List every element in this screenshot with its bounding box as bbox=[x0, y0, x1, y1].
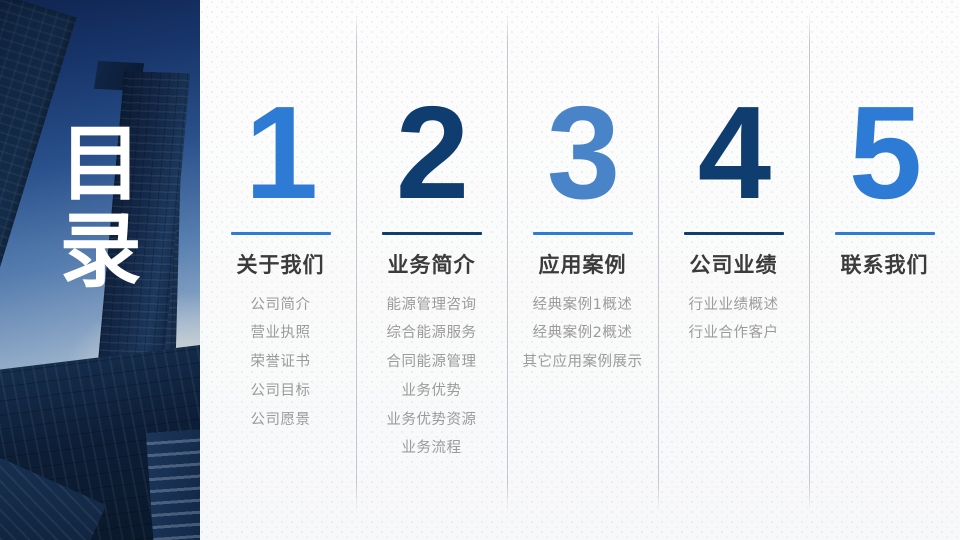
list-item[interactable]: 行业业绩概述 bbox=[689, 295, 779, 317]
toc-column-4[interactable]: 4 公司业绩 行业业绩概述行业合作客户 bbox=[658, 0, 809, 540]
section-rule-1 bbox=[231, 232, 331, 235]
list-item[interactable]: 公司愿景 bbox=[251, 410, 311, 432]
page-title-char-2: 录 bbox=[46, 209, 156, 296]
list-item[interactable]: 合同能源管理 bbox=[387, 352, 477, 374]
list-item[interactable]: 其它应用案例展示 bbox=[523, 352, 643, 374]
list-item[interactable]: 业务优势资源 bbox=[387, 410, 477, 432]
list-item[interactable]: 行业合作客户 bbox=[689, 323, 779, 345]
section-number-1: 1 bbox=[245, 96, 316, 210]
section-rule-5 bbox=[835, 232, 935, 235]
section-items-1: 公司简介营业执照荣誉证书公司目标公司愿景 bbox=[251, 295, 311, 432]
section-heading-4[interactable]: 公司业绩 bbox=[690, 249, 778, 279]
toc-column-2[interactable]: 2 业务简介 能源管理咨询综合能源服务合同能源管理业务优势业务优势资源业务流程 bbox=[356, 0, 507, 540]
section-rule-3 bbox=[533, 232, 633, 235]
toc-column-1[interactable]: 1 关于我们 公司简介营业执照荣誉证书公司目标公司愿景 bbox=[205, 0, 356, 540]
toc-columns: 1 关于我们 公司简介营业执照荣誉证书公司目标公司愿景 2 业务简介 能源管理咨… bbox=[205, 0, 960, 540]
section-items-4: 行业业绩概述行业合作客户 bbox=[689, 295, 779, 346]
section-heading-1[interactable]: 关于我们 bbox=[237, 249, 325, 279]
section-items-2: 能源管理咨询综合能源服务合同能源管理业务优势业务优势资源业务流程 bbox=[387, 295, 477, 461]
section-heading-3[interactable]: 应用案例 bbox=[539, 249, 627, 279]
toc-column-3[interactable]: 3 应用案例 经典案例1概述经典案例2概述其它应用案例展示 bbox=[507, 0, 658, 540]
section-number-4: 4 bbox=[698, 96, 769, 210]
list-item[interactable]: 综合能源服务 bbox=[387, 323, 477, 345]
list-item[interactable]: 经典案例2概述 bbox=[533, 323, 633, 345]
section-number-3: 3 bbox=[547, 96, 618, 210]
list-item[interactable]: 经典案例1概述 bbox=[533, 295, 633, 317]
page-title: 目 录 bbox=[46, 122, 156, 296]
list-item[interactable]: 公司简介 bbox=[251, 295, 311, 317]
list-item[interactable]: 营业执照 bbox=[251, 323, 311, 345]
section-heading-2[interactable]: 业务简介 bbox=[388, 249, 476, 279]
section-heading-5[interactable]: 联系我们 bbox=[841, 249, 929, 279]
section-number-2: 2 bbox=[396, 96, 467, 210]
list-item[interactable]: 荣誉证书 bbox=[251, 352, 311, 374]
page-title-char-1: 目 bbox=[46, 122, 156, 209]
section-items-3: 经典案例1概述经典案例2概述其它应用案例展示 bbox=[523, 295, 643, 374]
slide-root: 目 录 1 关于我们 公司简介营业执照荣誉证书公司目标公司愿景 2 业务简介 能… bbox=[0, 0, 960, 540]
skyscraper-photo: 目 录 bbox=[0, 0, 200, 540]
list-item[interactable]: 业务流程 bbox=[402, 438, 462, 460]
section-rule-2 bbox=[382, 232, 482, 235]
list-item[interactable]: 公司目标 bbox=[251, 381, 311, 403]
toc-column-5[interactable]: 5 联系我们 bbox=[809, 0, 960, 540]
list-item[interactable]: 业务优势 bbox=[402, 381, 462, 403]
list-item[interactable]: 能源管理咨询 bbox=[387, 295, 477, 317]
section-rule-4 bbox=[684, 232, 784, 235]
section-number-5: 5 bbox=[849, 96, 920, 210]
